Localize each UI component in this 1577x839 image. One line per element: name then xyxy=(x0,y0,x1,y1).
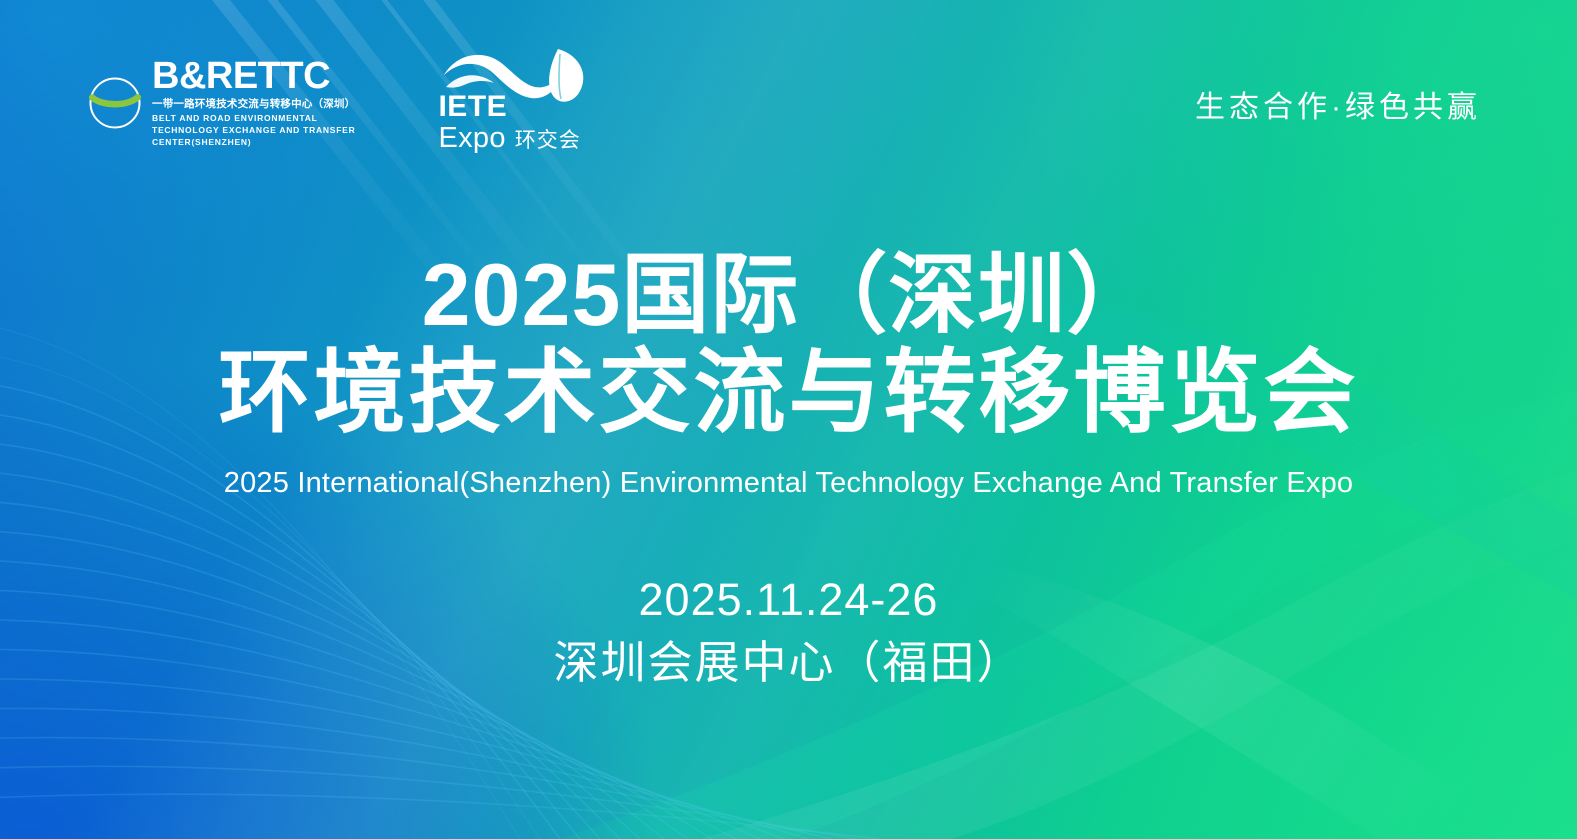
header-tagline: 生态合作·绿色共赢 xyxy=(1195,74,1481,126)
iete-wordmark-block: IETE Expo 环交会 xyxy=(438,92,580,153)
event-venue: 深圳会展中心（福田） xyxy=(0,634,1577,693)
brettc-logo: B&RETTC 一带一路环境技术交流与转移中心（深圳） BELT AND ROA… xyxy=(88,52,355,148)
event-title-line-1: 2025国际（深圳） xyxy=(0,248,1577,341)
banner-main-content: 2025国际（深圳） 环境技术交流与转移博览会 2025 Internation… xyxy=(0,248,1577,693)
iete-expo-logo: IETE Expo 环交会 xyxy=(432,46,592,154)
brettc-text-block: B&RETTC 一带一路环境技术交流与转移中心（深圳） BELT AND ROA… xyxy=(152,58,355,148)
event-subtitle-english: 2025 International(Shenzhen) Environment… xyxy=(0,467,1577,500)
iete-wordmark-line1: IETE xyxy=(438,92,580,122)
event-banner: B&RETTC 一带一路环境技术交流与转移中心（深圳） BELT AND ROA… xyxy=(0,0,1577,839)
brettc-subtitle-cn: 一带一路环境技术交流与转移中心（深圳） xyxy=(152,97,355,111)
event-title-line-2: 环境技术交流与转移博览会 xyxy=(0,345,1577,443)
event-date: 2025.11.24-26 xyxy=(0,572,1577,628)
brettc-subtitle-en-line-1: BELT AND ROAD ENVIRONMENTAL xyxy=(152,112,355,124)
brettc-subtitle-en-line-2: TECHNOLOGY EXCHANGE AND TRANSFER xyxy=(152,124,355,136)
iete-wordmark-cn: 环交会 xyxy=(515,130,581,151)
event-meta: 2025.11.24-26 深圳会展中心（福田） xyxy=(0,572,1577,693)
logo-group: B&RETTC 一带一路环境技术交流与转移中心（深圳） BELT AND ROA… xyxy=(88,46,592,154)
brettc-wordmark: B&RETTC xyxy=(152,58,355,95)
globe-circle-mark-icon xyxy=(88,76,142,130)
banner-header: B&RETTC 一带一路环境技术交流与转移中心（深圳） BELT AND ROA… xyxy=(0,0,1577,200)
brettc-subtitle-en-line-3: CENTER(SHENZHEN) xyxy=(152,136,355,148)
iete-wordmark-expo: Expo xyxy=(438,124,505,153)
